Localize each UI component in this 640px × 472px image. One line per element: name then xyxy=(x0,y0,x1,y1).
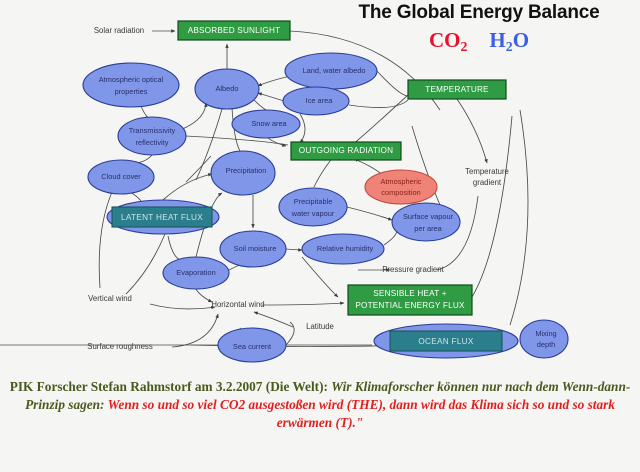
label-vertical-wind: Vertical wind xyxy=(88,294,132,303)
node-label: Transmissivity xyxy=(129,126,176,135)
node-evaporation[interactable]: Evaporation xyxy=(163,257,229,289)
node-label: depth xyxy=(537,340,556,349)
node-label: composition xyxy=(381,188,420,197)
label-surface-roughness: Surface roughness xyxy=(87,342,153,351)
node-label: ABSORBED SUNLIGHT xyxy=(188,26,281,35)
node-label: Cloud cover xyxy=(101,172,141,181)
node-atmospheric-composition[interactable]: Atmospheric composition xyxy=(365,170,437,204)
label-solar-radiation: Solar radiation xyxy=(94,26,144,35)
caption-block: PIK Forscher Stefan Rahmstorf am 3.2.200… xyxy=(6,378,634,431)
node-label: Evaporation xyxy=(176,268,215,277)
node-label: OCEAN FLUX xyxy=(418,337,474,346)
node-label: Atmospheric optical xyxy=(99,75,164,84)
label-latitude: Latitude xyxy=(306,322,334,331)
node-label: Mixing xyxy=(535,329,556,338)
label-temperature-gradient-line1: Temperature xyxy=(465,167,509,176)
node-label: Soil moisture xyxy=(234,244,277,253)
node-outgoing-radiation[interactable]: OUTGOING RADIATION xyxy=(291,142,401,160)
node-label: Ice area xyxy=(306,96,334,105)
node-latent-heat-flux[interactable]: LATENT HEAT FLUX xyxy=(112,207,212,227)
node-ice-area[interactable]: Ice area xyxy=(283,87,349,115)
climate-feedback-diagram: Atmospheric optical properties Albedo La… xyxy=(0,0,640,380)
screenshot-canvas: Atmospheric optical properties Albedo La… xyxy=(0,0,640,472)
node-label: water vapour xyxy=(291,209,335,218)
label-pressure-gradient: Pressure gradient xyxy=(382,265,444,274)
node-mixing-depth[interactable]: Mixing depth xyxy=(520,320,568,358)
node-label: LATENT HEAT FLUX xyxy=(121,213,203,222)
node-cloud-cover[interactable]: Cloud cover xyxy=(88,160,154,194)
node-albedo[interactable]: Albedo xyxy=(195,69,259,109)
node-label: POTENTIAL ENERGY FLUX xyxy=(355,301,465,310)
node-absorbed-sunlight[interactable]: ABSORBED SUNLIGHT xyxy=(178,21,290,40)
label-horizontal-wind: Horizontal wind xyxy=(211,300,264,309)
node-soil-moisture[interactable]: Soil moisture xyxy=(220,231,286,267)
node-transmissivity-reflectivity[interactable]: Transmissivity reflectivity xyxy=(118,117,186,155)
node-label: per area xyxy=(414,224,442,233)
node-label: Albedo xyxy=(215,84,238,93)
node-snow-area[interactable]: Snow area xyxy=(232,110,300,138)
node-sea-current[interactable]: Sea current xyxy=(218,328,286,362)
node-relative-humidity[interactable]: Relative humidity xyxy=(302,234,384,264)
node-precipitation[interactable]: Precipitation xyxy=(211,151,275,195)
node-precipitable-water-vapour[interactable]: Precipitable water vapour xyxy=(279,188,347,226)
caption-lead: PIK Forscher Stefan Rahmstorf am 3.2.200… xyxy=(10,379,332,394)
node-ocean-flux[interactable]: OCEAN FLUX xyxy=(390,331,502,351)
caption-red: Wenn so und so viel CO2 ausgestoßen wird… xyxy=(108,397,615,430)
node-surface-vapour-per-area[interactable]: Surface vapour per area xyxy=(392,203,460,241)
node-label: Surface vapour xyxy=(403,212,454,221)
node-label: Land, water albedo xyxy=(303,66,366,75)
node-temperature[interactable]: TEMPERATURE xyxy=(408,80,506,99)
node-label: Precipitation xyxy=(226,166,267,175)
node-land-water-albedo[interactable]: Land, water albedo xyxy=(285,53,377,89)
node-label: reflectivity xyxy=(136,138,169,147)
node-sensible-heat-potential-energy-flux[interactable]: SENSIBLE HEAT + POTENTIAL ENERGY FLUX xyxy=(348,285,472,315)
node-label: TEMPERATURE xyxy=(425,85,489,94)
node-label: Snow area xyxy=(251,119,287,128)
node-atmospheric-optical-properties[interactable]: Atmospheric optical properties xyxy=(83,63,179,107)
node-label: SENSIBLE HEAT + xyxy=(373,289,446,298)
node-label: Sea current xyxy=(233,342,271,351)
node-label: Precipitable xyxy=(294,197,333,206)
node-label: Atmospheric xyxy=(380,177,421,186)
node-label: OUTGOING RADIATION xyxy=(299,146,393,155)
node-label: Relative humidity xyxy=(317,244,374,253)
node-label: properties xyxy=(115,87,148,96)
label-temperature-gradient-line2: gradient xyxy=(473,178,502,187)
